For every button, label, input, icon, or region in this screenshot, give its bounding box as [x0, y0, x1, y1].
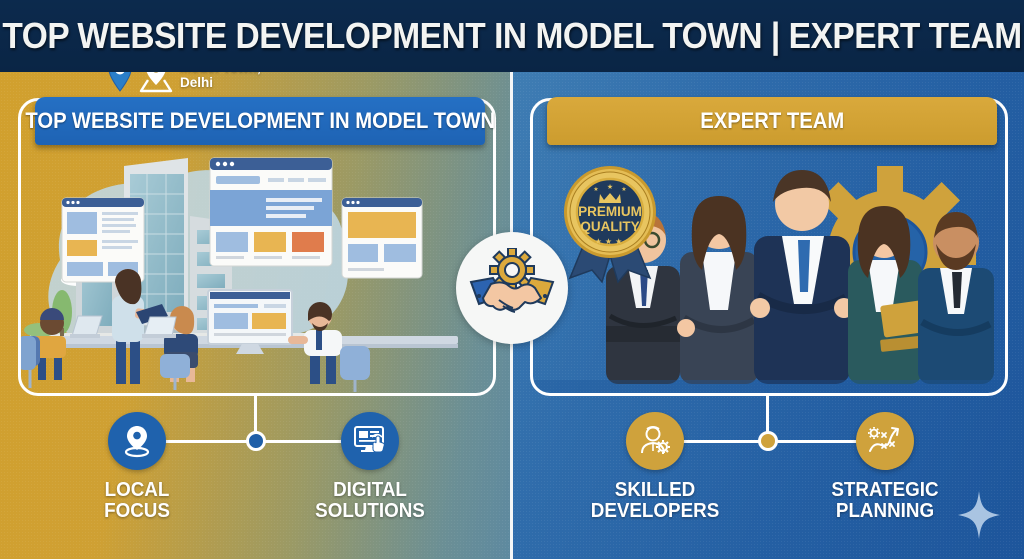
center-emblem	[456, 232, 568, 344]
strategic-planning-icon-circle	[856, 412, 914, 470]
local-focus-label-line2: FOCUS	[52, 501, 221, 522]
badge-line1: PREMIUM	[578, 204, 642, 219]
header-bar: TOP WEBSITE DEVELOPMENT IN MODEL TOWN | …	[0, 0, 1024, 72]
map-pin-location-icon	[122, 424, 152, 458]
digital-solutions-label-line2: SOLUTIONS	[285, 501, 454, 522]
monitor-click-icon	[353, 425, 387, 457]
left-panel-tab[interactable]: TOP WEBSITE DEVELOPMENT IN MODEL TOWN	[35, 97, 485, 145]
developer-gear-icon	[638, 425, 672, 457]
svg-text:★: ★	[607, 183, 613, 191]
strategic-planning-label-line1: STRATEGIC	[800, 480, 969, 501]
right-panel-tab[interactable]: EXPERT TEAM	[547, 97, 997, 145]
badge-line2: QUALITY	[580, 219, 639, 234]
svg-text:★: ★	[593, 186, 598, 193]
right-panel-tab-label: EXPERT TEAM	[700, 108, 844, 134]
left-panel-tab-label: TOP WEBSITE DEVELOPMENT IN MODEL TOWN	[25, 108, 495, 134]
skilled-developers-icon-circle	[626, 412, 684, 470]
page-title: TOP WEBSITE DEVELOPMENT IN MODEL TOWN | …	[2, 15, 1021, 57]
right-icon-item-skilled-developers[interactable]: SKILLED DEVELOPERS	[565, 412, 745, 522]
strategic-planning-label: STRATEGIC PLANNING	[800, 480, 969, 522]
left-panel-frame: TOP WEBSITE DEVELOPMENT IN MODEL TOWN	[18, 98, 496, 396]
digital-solutions-label: DIGITAL SOLUTIONS	[285, 480, 454, 522]
location-line2: Delhi	[180, 75, 261, 90]
local-focus-icon-circle	[108, 412, 166, 470]
svg-text:★★★: ★★★	[595, 237, 626, 246]
infographic-canvas: ★ ★ ★ PREMIUM QUALITY ★★★ TOP WEBSITE DE…	[0, 0, 1024, 559]
local-focus-label-line1: LOCAL	[52, 480, 221, 501]
left-connector-node	[246, 431, 266, 451]
local-focus-label: LOCAL FOCUS	[52, 480, 221, 522]
four-point-star-icon	[956, 489, 1002, 541]
strategy-arrow-icon	[867, 425, 903, 457]
skilled-developers-label-line2: DEVELOPERS	[570, 501, 739, 522]
digital-solutions-icon-circle	[341, 412, 399, 470]
left-icon-item-local-focus[interactable]: LOCAL FOCUS	[47, 412, 227, 522]
left-icon-item-digital-solutions[interactable]: DIGITAL SOLUTIONS	[280, 412, 460, 522]
premium-quality-award-badge: ★ ★ ★ PREMIUM QUALITY ★★★	[552, 156, 668, 284]
svg-text:★: ★	[621, 186, 626, 193]
skilled-developers-label: SKILLED DEVELOPERS	[570, 480, 739, 522]
strategic-planning-label-line2: PLANNING	[800, 501, 969, 522]
skilled-developers-label-line1: SKILLED	[570, 480, 739, 501]
handshake-gear-icon	[469, 248, 555, 328]
right-connector-node	[758, 431, 778, 451]
digital-solutions-label-line1: DIGITAL	[285, 480, 454, 501]
right-icon-item-strategic-planning[interactable]: STRATEGIC PLANNING	[795, 412, 975, 522]
